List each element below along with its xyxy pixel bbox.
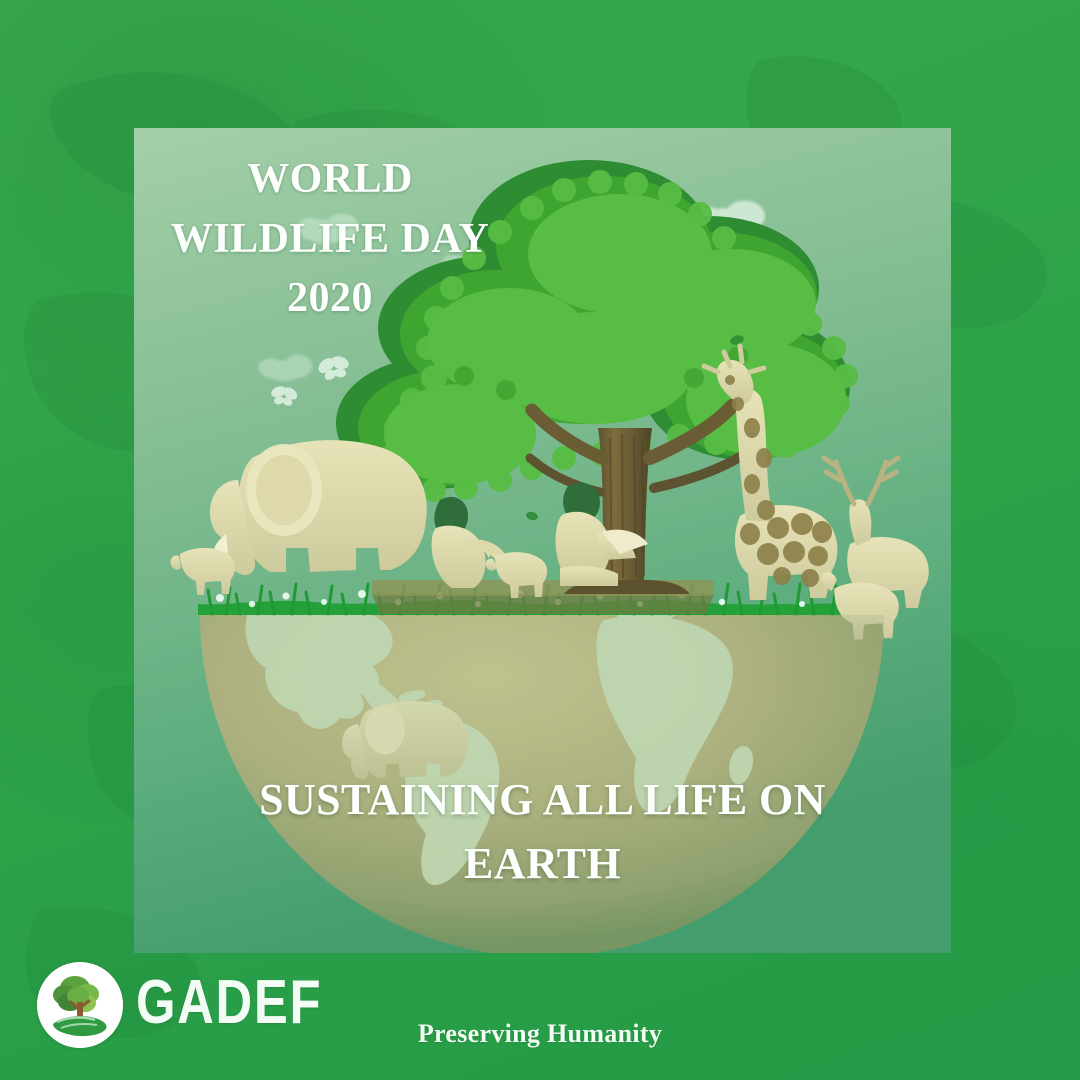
footer-bar: GADEF [0,953,1080,1080]
brand-slogan: Preserving Humanity [0,1019,1080,1049]
headline-line-3: 2020 [160,269,500,329]
headline-line-1: WORLD [160,150,500,210]
headline-block: WORLD WILDLIFE DAY 2020 [160,150,500,329]
tagline-line-1: SUSTAINING ALL LIFE ON [182,768,903,832]
artwork-panel: WORLD WILDLIFE DAY 2020 SUSTAINING ALL L… [134,128,951,953]
tagline-block: SUSTAINING ALL LIFE ON EARTH [134,768,951,896]
poster-canvas: WORLD WILDLIFE DAY 2020 SUSTAINING ALL L… [0,0,1080,1080]
headline-line-2: WILDLIFE DAY [160,210,500,270]
tagline-line-2: EARTH [182,832,903,896]
